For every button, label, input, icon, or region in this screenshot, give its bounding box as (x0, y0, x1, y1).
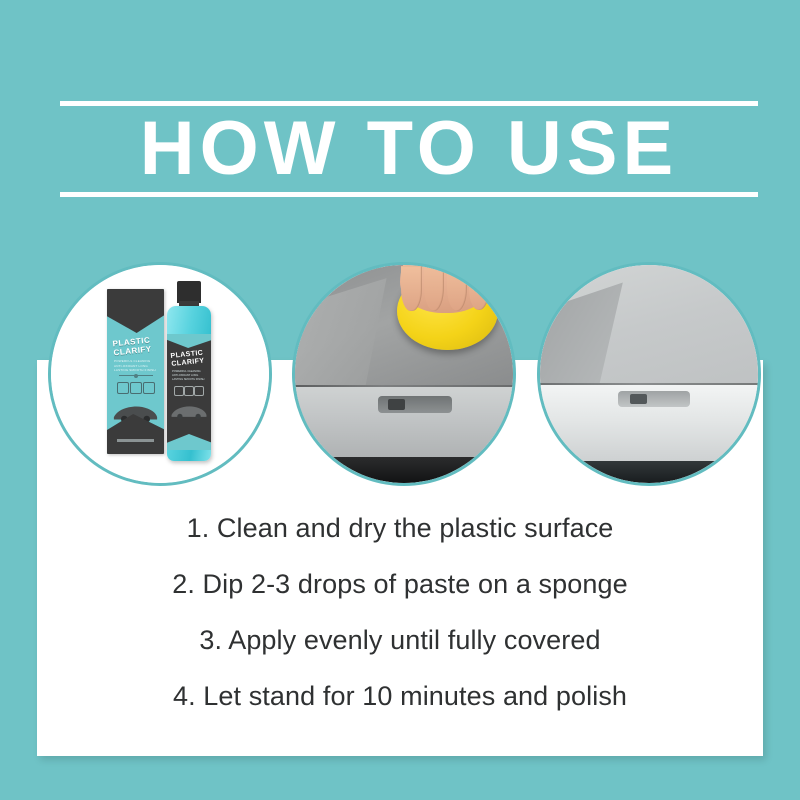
poster-canvas: HOW TO USE PLASTIC CLARIFY POWERFUL CLEA… (0, 0, 800, 800)
instruction-step: 2. Dip 2-3 drops of paste on a sponge (172, 556, 628, 612)
instruction-step-list: 1. Clean and dry the plastic surface 2. … (37, 500, 763, 724)
gallery-item-restored-panel (537, 262, 761, 486)
title-divider-bottom (60, 192, 758, 197)
box-divider (119, 375, 153, 376)
bottle-subtext: POWERFUL CLEANING ANTI-OXIDANT LONG LAST… (172, 370, 206, 381)
bottle-net-content-text (176, 439, 202, 442)
box-top-panel (107, 289, 164, 333)
panel-shadow-area (540, 461, 758, 483)
product-box: PLASTIC CLARIFY POWERFUL CLEANING ANTI-O… (107, 289, 164, 454)
door-handle-recess (618, 391, 690, 406)
door-handle-recess (378, 396, 452, 413)
restored-panel-photo (540, 265, 758, 483)
product-packaging-photo: PLASTIC CLARIFY POWERFUL CLEANING ANTI-O… (51, 265, 269, 483)
finger (469, 268, 489, 310)
bottle-body: PLASTIC CLARIFY POWERFUL CLEANING ANTI-O… (167, 306, 211, 461)
shine-icon (174, 386, 184, 396)
bottle-cap (177, 281, 201, 303)
bottle-icon (184, 386, 194, 396)
hand (400, 265, 492, 313)
finger (424, 265, 444, 311)
gallery-item-applying-sponge (292, 262, 516, 486)
applying-with-sponge-photo (295, 265, 513, 483)
box-feature-icons (117, 382, 155, 394)
instruction-step: 4. Let stand for 10 minutes and polish (173, 668, 627, 724)
panel-shadow-area (295, 457, 513, 483)
product-bottle: PLASTIC CLARIFY POWERFUL CLEANING ANTI-O… (167, 281, 211, 461)
gallery-item-product-packaging: PLASTIC CLARIFY POWERFUL CLEANING ANTI-O… (48, 262, 272, 486)
bottle-label: PLASTIC CLARIFY POWERFUL CLEANING ANTI-O… (167, 334, 211, 450)
car-door-panel-dirty (295, 265, 513, 483)
shine-icon (117, 382, 129, 394)
box-net-content-text (117, 439, 154, 442)
finger (401, 266, 421, 312)
shield-icon (194, 386, 204, 396)
car-silhouette-icon (170, 400, 208, 420)
shield-icon (143, 382, 155, 394)
car-door-panel-restored (540, 265, 758, 483)
bottle-feature-icons (174, 386, 204, 396)
finger (447, 265, 467, 311)
box-brand-text: PLASTIC CLARIFY (112, 335, 160, 358)
bottle-icon (130, 382, 142, 394)
product-scene: PLASTIC CLARIFY POWERFUL CLEANING ANTI-O… (51, 265, 269, 483)
page-title: HOW TO USE (60, 108, 758, 190)
instruction-step: 3. Apply evenly until fully covered (199, 612, 600, 668)
bottle-brand-text: PLASTIC CLARIFY (170, 349, 208, 369)
box-subtext: POWERFUL CLEANING ANTI-OXIDANT LONG LAST… (114, 359, 158, 373)
instruction-step: 1. Clean and dry the plastic surface (187, 500, 614, 556)
